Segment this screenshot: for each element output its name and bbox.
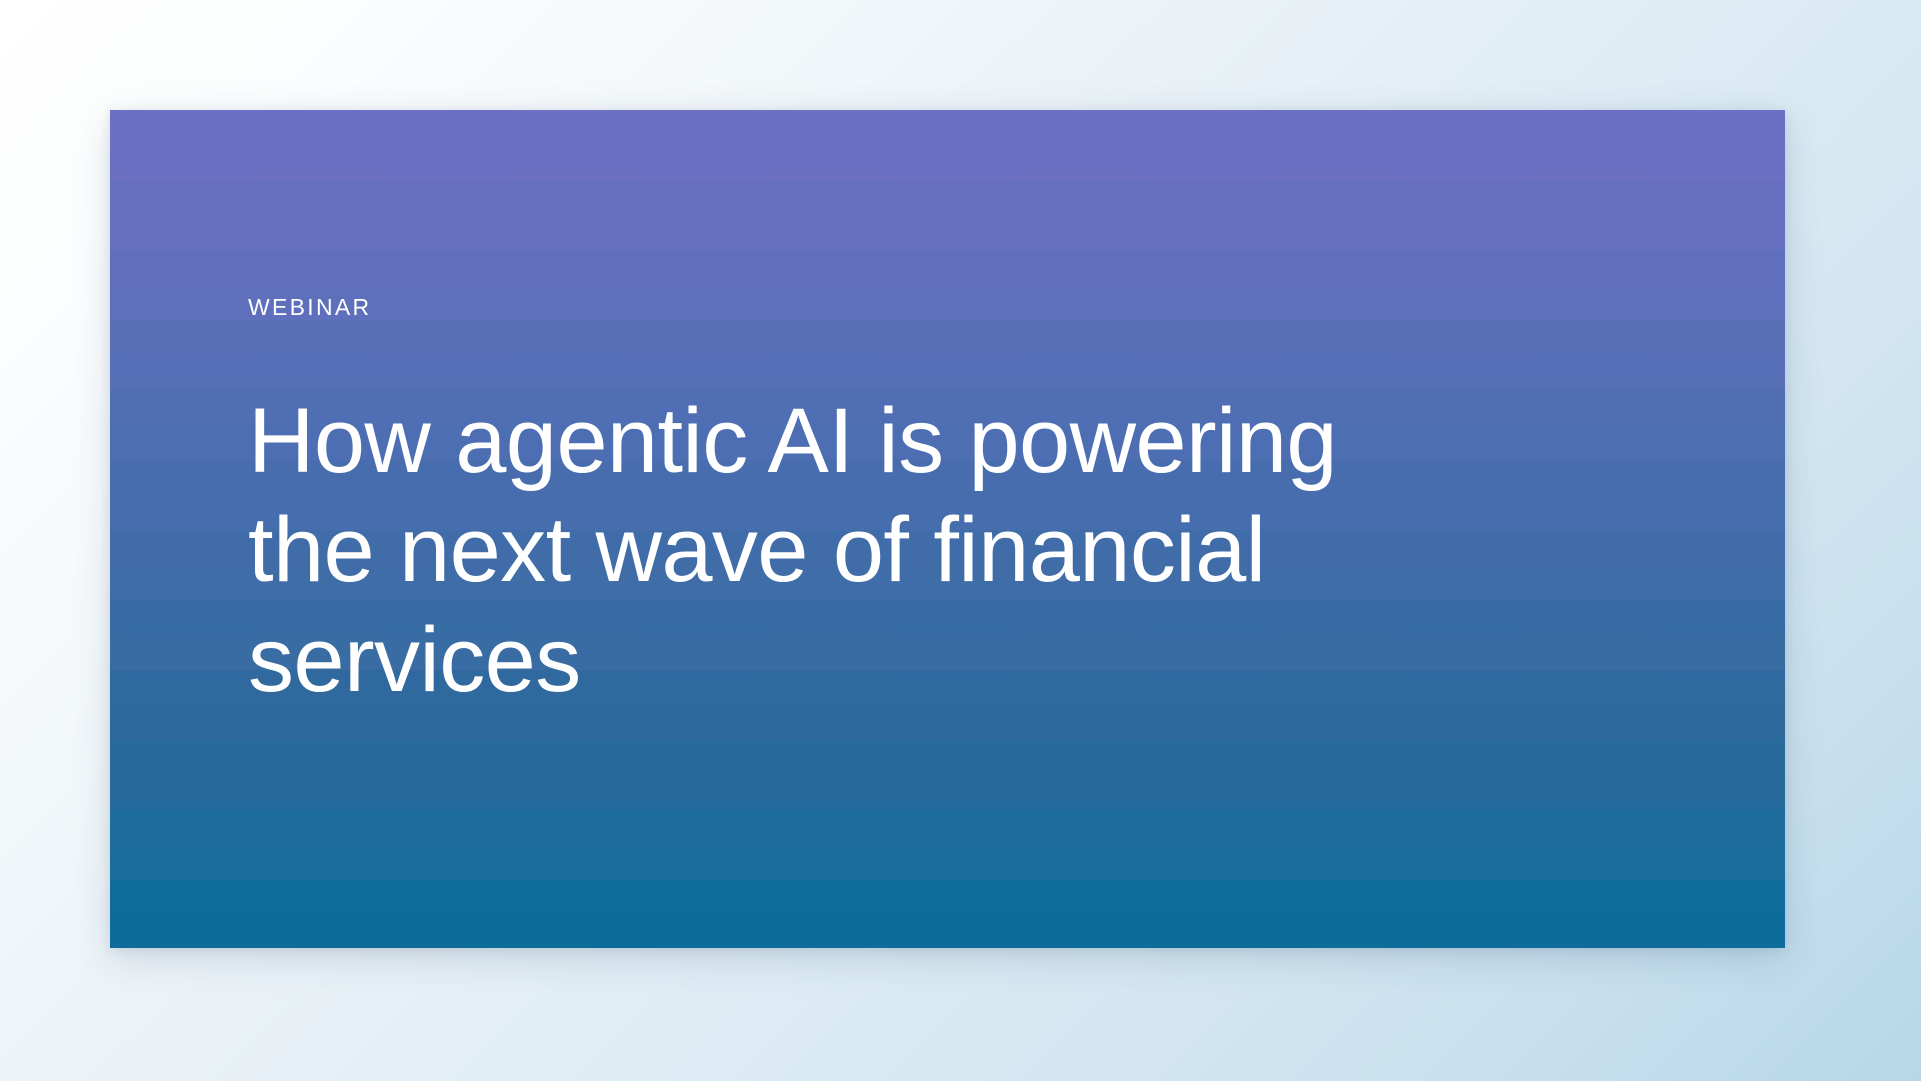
page-root: WEBINAR How agentic AI is powering the n… xyxy=(0,0,1921,1081)
hero-title-line-2: the next wave of financial xyxy=(248,496,1648,605)
hero-eyebrow-label: WEBINAR xyxy=(248,296,371,319)
hero-title: How agentic AI is powering the next wave… xyxy=(248,387,1648,715)
hero-content: WEBINAR How agentic AI is powering the n… xyxy=(248,110,1745,948)
hero-title-line-1: How agentic AI is powering xyxy=(248,387,1648,496)
hero-card: WEBINAR How agentic AI is powering the n… xyxy=(110,110,1785,948)
hero-title-line-3: services xyxy=(248,606,1648,715)
